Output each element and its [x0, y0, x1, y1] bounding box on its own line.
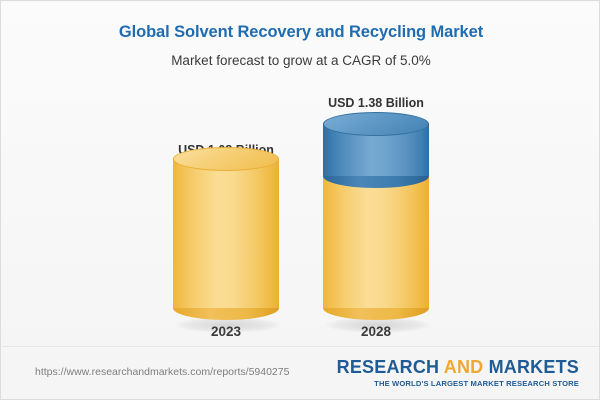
cylinder-top-cap-2023	[173, 147, 279, 171]
bar-group-2028: USD 1.38 Billion 2028	[311, 81, 441, 343]
bar-axis-label-2028: 2028	[311, 324, 441, 339]
brand-name-part1: RESEARCH	[337, 357, 444, 377]
bar-axis-label-2023: 2023	[161, 324, 291, 339]
cylinder-body-2023	[173, 159, 279, 308]
brand-name: RESEARCH AND MARKETS	[337, 357, 579, 378]
plot-area: USD 1.08 Billion 2023 USD 1.38 Billion	[1, 81, 600, 343]
bar-value-label-2028: USD 1.38 Billion	[311, 96, 441, 110]
cylinder-2023[interactable]	[173, 159, 279, 308]
chart-title: Global Solvent Recovery and Recycling Ma…	[1, 23, 600, 42]
cylinder-top-cap-2028	[323, 112, 429, 136]
brand-logo[interactable]: RESEARCH AND MARKETS THE WORLD'S LARGEST…	[337, 357, 579, 388]
cylinder-segment-growth-2028	[323, 124, 429, 176]
report-url-link[interactable]: https://www.researchandmarkets.com/repor…	[35, 366, 289, 378]
brand-tagline: THE WORLD'S LARGEST MARKET RESEARCH STOR…	[337, 379, 579, 388]
footer: https://www.researchandmarkets.com/repor…	[1, 347, 600, 400]
bar-group-2023: USD 1.08 Billion 2023	[161, 81, 291, 343]
cylinder-segment-base-2028	[323, 176, 429, 308]
brand-name-part2: MARKETS	[483, 357, 579, 377]
cylinder-body-base-2028	[323, 176, 429, 308]
cylinder-2028-growth[interactable]	[323, 124, 429, 176]
chart-subtitle: Market forecast to grow at a CAGR of 5.0…	[1, 53, 600, 68]
cylinder-segment-base-2023	[173, 159, 279, 308]
chart-card: Global Solvent Recovery and Recycling Ma…	[0, 0, 600, 400]
brand-name-and: AND	[444, 357, 484, 377]
cylinder-2028-base[interactable]	[323, 176, 429, 308]
